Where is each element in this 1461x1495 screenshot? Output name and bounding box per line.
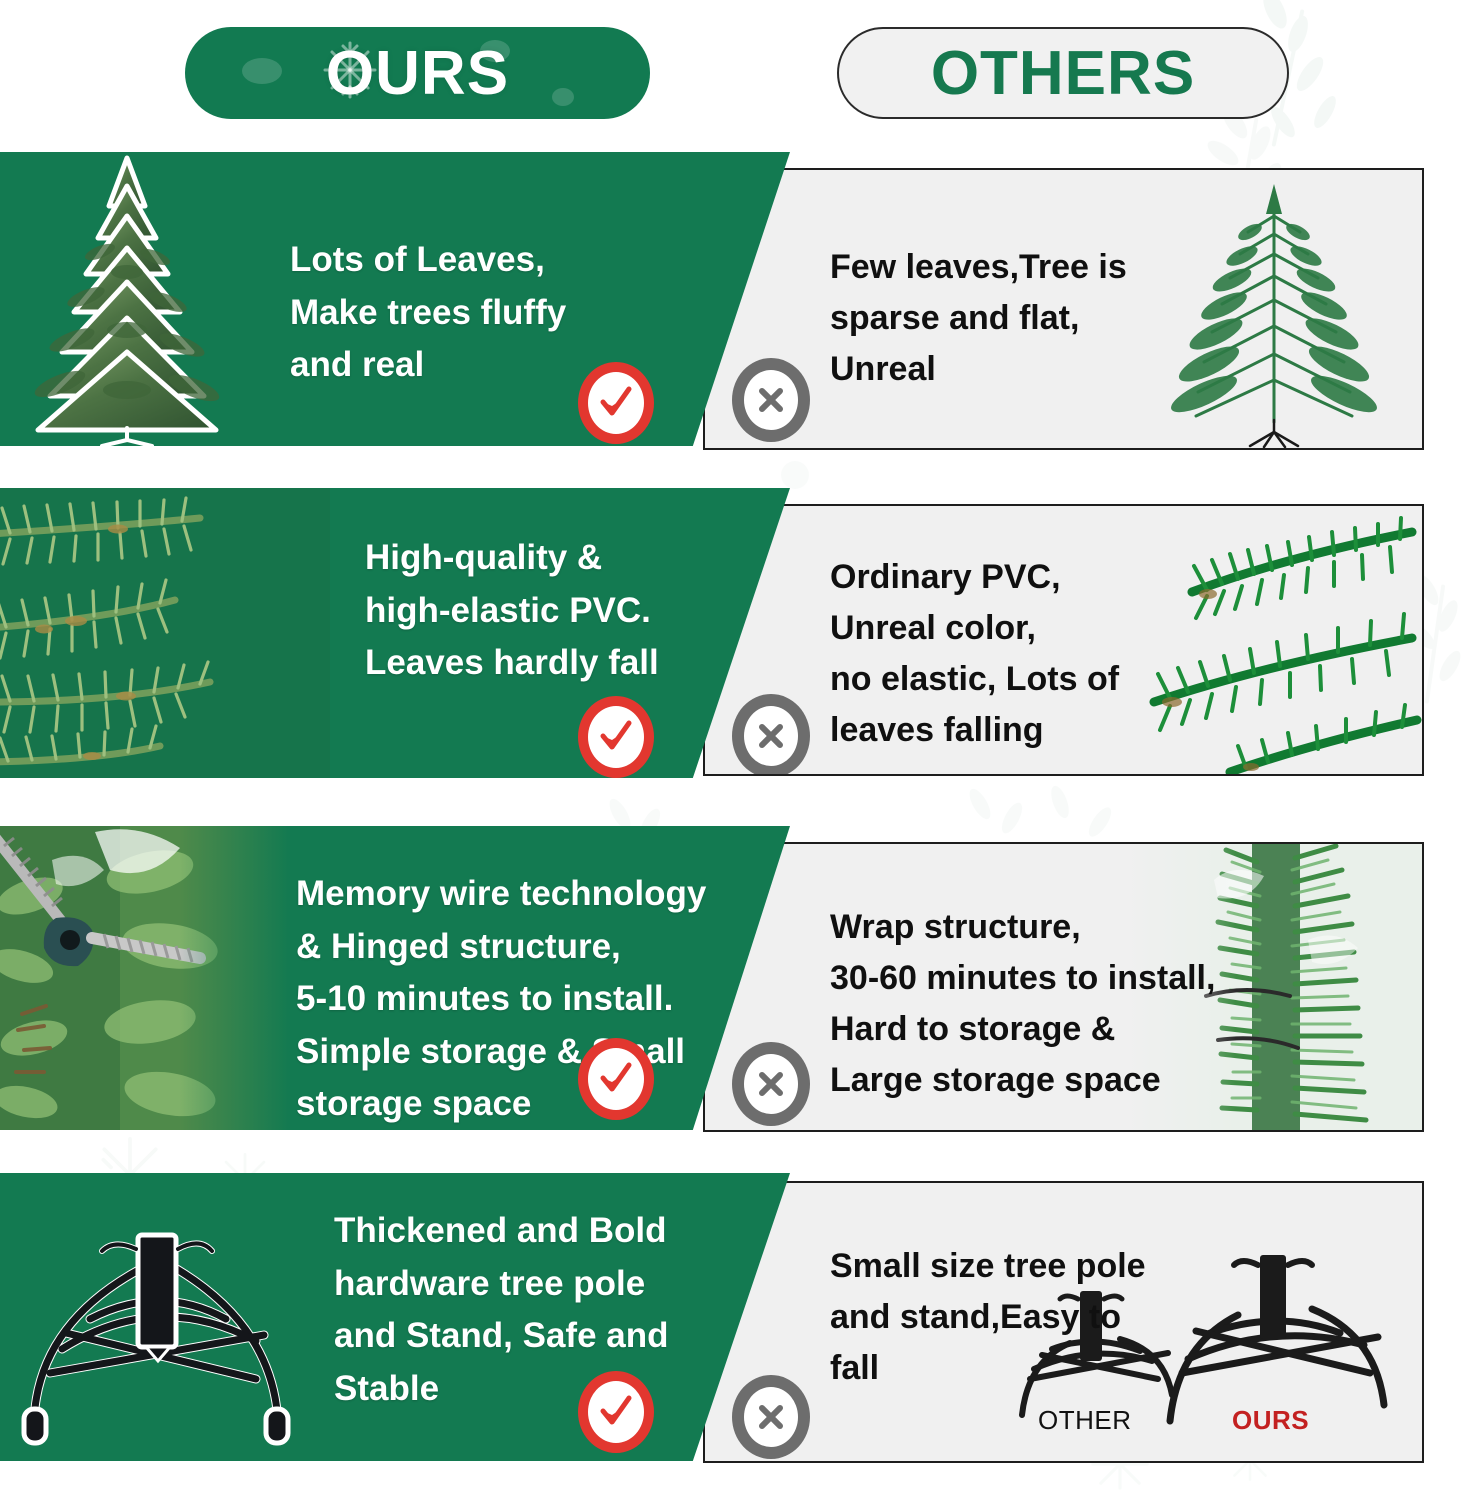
others-line: 30-60 minutes to install, (830, 953, 1215, 1004)
comparison-row-leaves: Few leaves,Tree is sparse and flat, Unre… (0, 152, 1461, 452)
ours-line: high-elastic PVC. (365, 585, 659, 638)
stand-label-ours: OURS (1232, 1405, 1309, 1436)
ours-panel-leaves: Lots of Leaves, Make trees fluffy and re… (0, 152, 790, 446)
others-panel-assembly: Wrap structure, 30-60 minutes to install… (703, 842, 1424, 1132)
realistic-pine-branch-closeup-photo (0, 488, 330, 778)
others-line: leaves falling (830, 705, 1119, 756)
header-ours-label: OURS (326, 38, 509, 109)
ours-line: 5-10 minutes to install. (296, 973, 706, 1026)
sparse-christmas-tree-photo (1154, 170, 1394, 448)
cross-icon (754, 1067, 788, 1101)
others-line: Ordinary PVC, (830, 552, 1119, 603)
hinged-branch-memory-wire-photo (0, 826, 290, 1130)
ours-panel-stand: Thickened and Bold hardware tree pole an… (0, 1173, 790, 1461)
comparison-row-stand: OTHER OURS Small size tree pole and stan… (0, 1173, 1461, 1465)
heavy-duty-metal-tree-stand-photo (10, 1173, 340, 1461)
ours-line: Make trees fluffy (290, 287, 566, 340)
ours-line: hardware tree pole (334, 1258, 669, 1311)
ours-line: Leaves hardly fall (365, 637, 659, 690)
others-line: Few leaves,Tree is (830, 242, 1127, 293)
others-line: Large storage space (830, 1055, 1215, 1106)
x-badge (732, 694, 810, 776)
header-others-label: OTHERS (931, 38, 1195, 109)
others-line: Small size tree pole (830, 1241, 1146, 1292)
check-icon (598, 720, 634, 754)
others-text-stand: Small size tree pole and stand,Easy to f… (830, 1241, 1146, 1394)
check-badge (578, 1038, 654, 1120)
others-line: Unreal color, (830, 603, 1119, 654)
comparison-infographic: OURS OTHERS (0, 0, 1461, 1495)
others-text-material: Ordinary PVC, Unreal color, no elastic, … (830, 552, 1119, 756)
ours-text-material: High-quality & high-elastic PVC. Leaves … (365, 532, 659, 690)
ours-line: Memory wire technology (296, 868, 706, 921)
others-line: Hard to storage & (830, 1004, 1215, 1055)
others-line: Wrap structure, (830, 902, 1215, 953)
x-badge (732, 358, 810, 442)
x-badge (732, 1375, 810, 1459)
ours-line: High-quality & (365, 532, 659, 585)
others-text-assembly: Wrap structure, 30-60 minutes to install… (830, 902, 1215, 1106)
check-badge (578, 1371, 654, 1453)
stand-label-other: OTHER (1038, 1405, 1132, 1436)
cross-icon (754, 719, 788, 753)
snow-blur-icon (240, 49, 284, 93)
check-badge (578, 362, 654, 444)
ours-line: and Stand, Safe and (334, 1310, 669, 1363)
full-christmas-tree-dense-photo (10, 152, 245, 446)
plastic-pvc-branch-closeup-photo (1112, 506, 1422, 774)
ours-panel-material: High-quality & high-elastic PVC. Leaves … (0, 488, 790, 778)
ours-text-leaves: Lots of Leaves, Make trees fluffy and re… (290, 234, 566, 392)
cross-icon (754, 1400, 788, 1434)
others-line: and stand,Easy to (830, 1292, 1146, 1343)
snow-blur-icon (545, 79, 581, 115)
others-panel-material: Ordinary PVC, Unreal color, no elastic, … (703, 504, 1424, 776)
ours-panel-assembly: Memory wire technology & Hinged structur… (0, 826, 790, 1130)
cross-icon (754, 383, 788, 417)
comparison-row-material: Ordinary PVC, Unreal color, no elastic, … (0, 488, 1461, 784)
others-panel-stand: OTHER OURS Small size tree pole and stan… (703, 1181, 1424, 1463)
header-pill-ours: OURS (185, 27, 650, 119)
ours-line: and real (290, 339, 566, 392)
others-line: Unreal (830, 344, 1127, 395)
others-line: no elastic, Lots of (830, 654, 1119, 705)
ours-line: Thickened and Bold (334, 1205, 669, 1258)
header-pill-others: OTHERS (837, 27, 1289, 119)
others-line: sparse and flat, (830, 293, 1127, 344)
check-icon (598, 1395, 634, 1429)
others-text-leaves: Few leaves,Tree is sparse and flat, Unre… (830, 242, 1127, 395)
ours-line: Lots of Leaves, (290, 234, 566, 287)
others-panel-leaves: Few leaves,Tree is sparse and flat, Unre… (703, 168, 1424, 450)
check-icon (598, 1062, 634, 1096)
check-icon (598, 386, 634, 420)
others-line: fall (830, 1343, 1146, 1394)
ours-line: & Hinged structure, (296, 921, 706, 974)
check-badge (578, 696, 654, 778)
comparison-row-assembly: Wrap structure, 30-60 minutes to install… (0, 826, 1461, 1136)
x-badge (732, 1042, 810, 1126)
